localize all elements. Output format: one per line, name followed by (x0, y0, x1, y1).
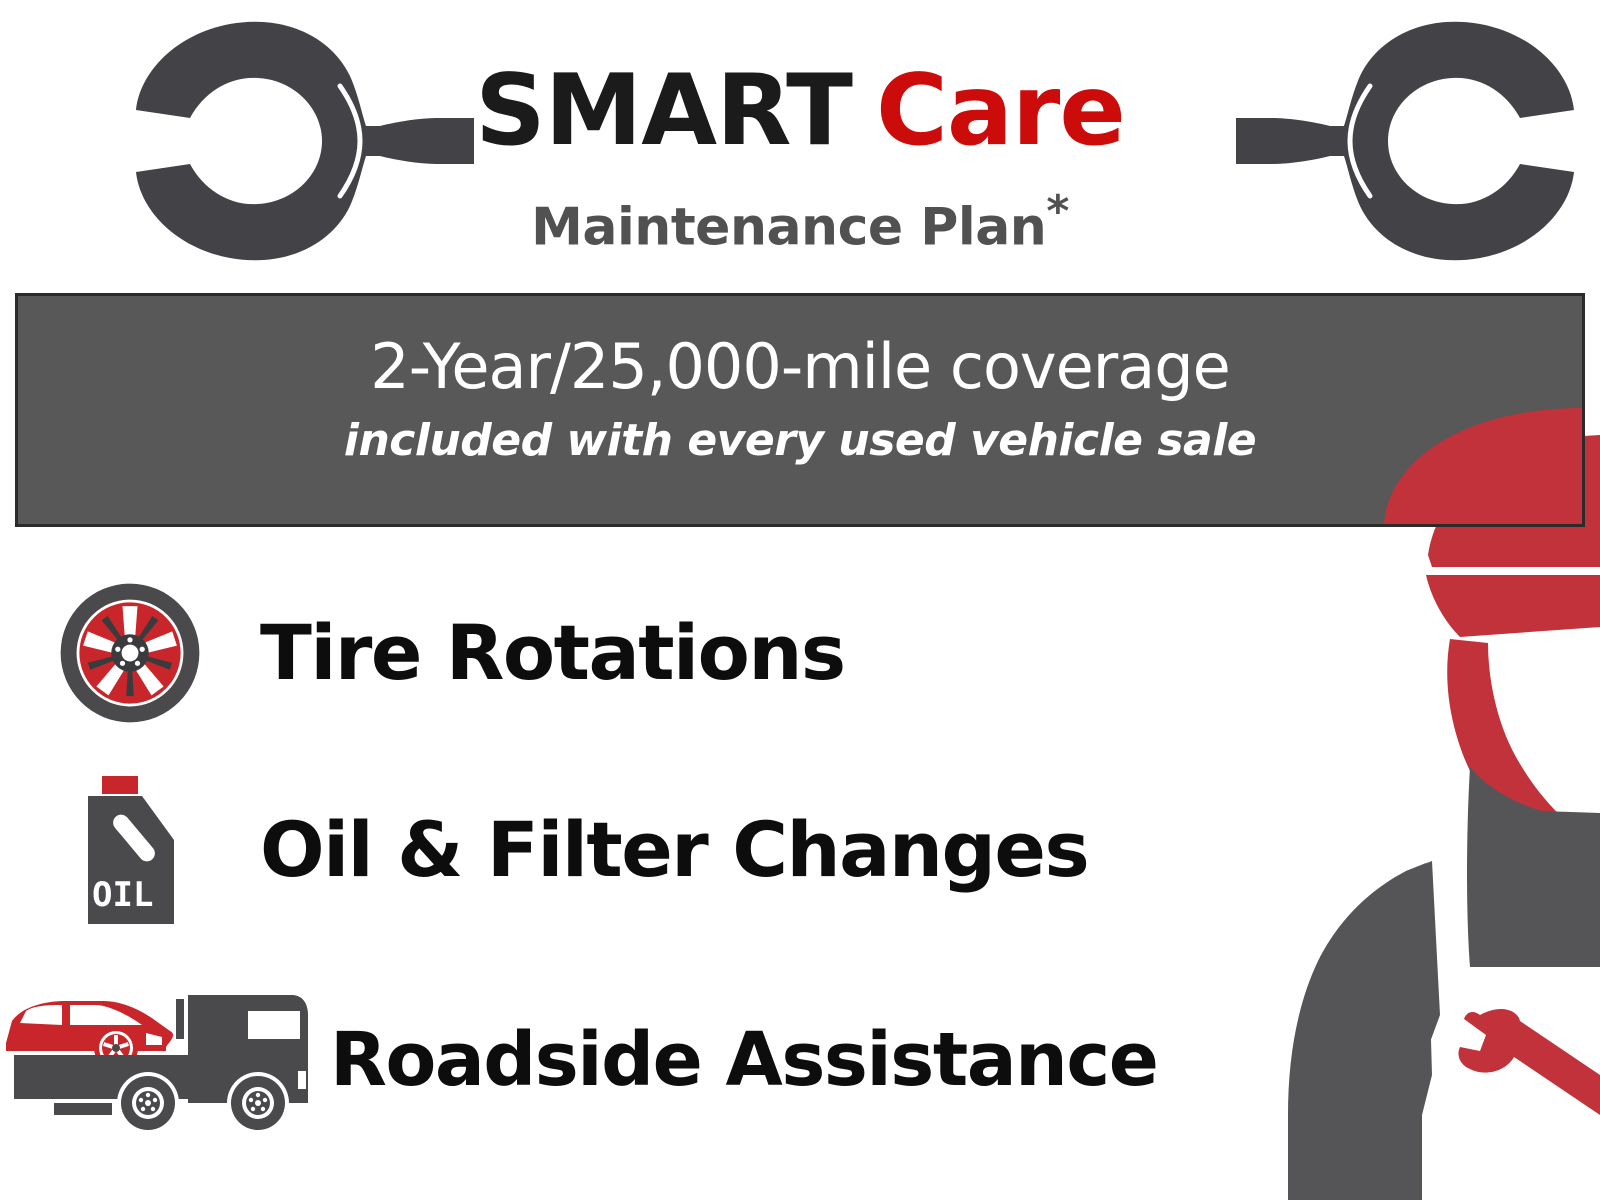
oil-bottle-icon: OIL (0, 760, 260, 940)
logo-header: SMARTCare Maintenance Plan* (0, 0, 1600, 280)
benefit-label: Tire Rotations (260, 615, 845, 691)
benefit-row: Tire Rotations (0, 565, 1180, 740)
logo-subtitle: Maintenance Plan* (0, 190, 1600, 253)
banner-headline: 2-Year/25,000-mile coverage (18, 334, 1582, 399)
benefit-label: Roadside Assistance (330, 1023, 1157, 1097)
mechanic-with-wrench-illustration (1170, 415, 1600, 1200)
smart-care-maintenance-plan-graphic: SMARTCare Maintenance Plan* 2-Year/25,00… (0, 0, 1600, 1200)
logo-subtitle-text: Maintenance Plan (531, 197, 1046, 257)
tire-wheel-icon (0, 565, 260, 740)
banner-subline: included with every used vehicle sale (18, 418, 1582, 464)
oil-bottle-label: OIL (92, 875, 153, 915)
logo-word-smart: SMART (475, 54, 852, 168)
benefit-row: Roadside Assistance (0, 960, 1180, 1160)
red-wrench (1458, 1009, 1600, 1115)
benefit-row: OIL Oil & Filter Changes (0, 760, 1180, 940)
logo-subtitle-asterisk: * (1046, 186, 1069, 237)
coverage-banner: 2-Year/25,000-mile coverage included wit… (15, 293, 1585, 527)
logo-wordmark: SMARTCare (0, 62, 1600, 160)
tow-truck-icon (0, 960, 330, 1160)
benefit-label: Oil & Filter Changes (260, 812, 1088, 888)
logo-word-care: Care (876, 54, 1125, 168)
